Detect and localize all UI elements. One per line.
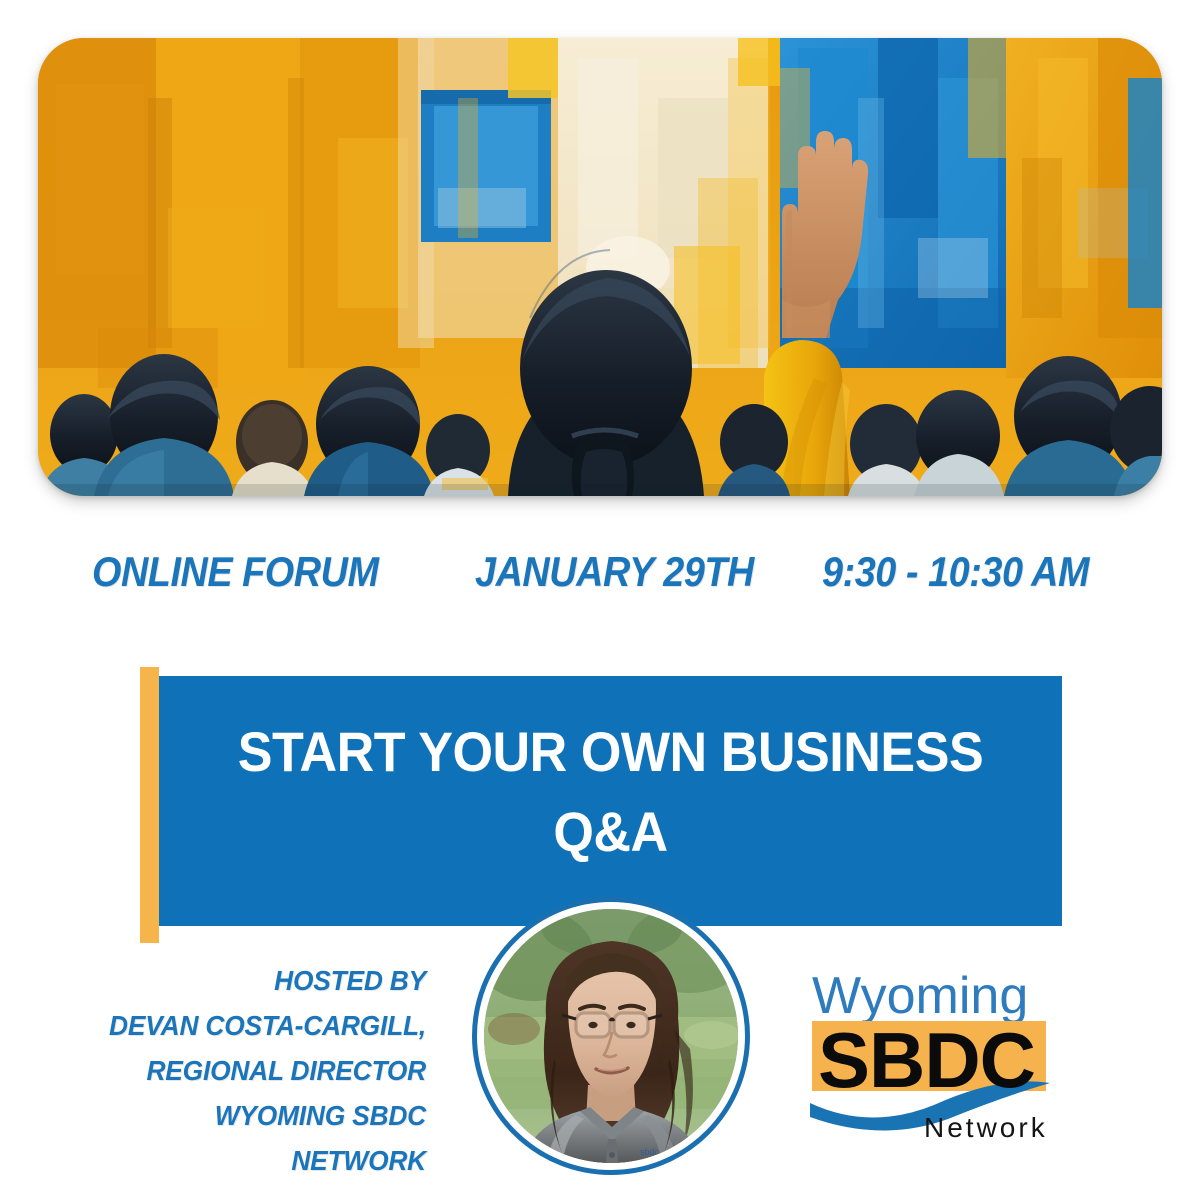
logo-word-network: Network [924,1112,1048,1143]
speaker-portrait: sbdc [472,897,750,1175]
event-title-line-2: Q&A [191,792,1031,872]
wyoming-sbdc-logo: Wyoming SBDC Network [806,955,1056,1145]
event-time: 9:30 - 10:30 AM [822,548,1089,596]
event-details-row: ONLINE FORUM JANUARY 29TH 9:30 - 10:30 A… [60,543,1140,601]
host-title: REGIONAL DIRECTOR [82,1048,426,1093]
speaker-photo: sbdc [484,909,738,1163]
host-name: DEVAN COSTA-CARGILL, [82,1003,426,1048]
host-organization: WYOMING SBDC NETWORK [82,1093,426,1183]
hero-image-classroom [38,38,1162,496]
hero-illustration [38,38,1162,496]
host-info: HOSTED BY DEVAN COSTA-CARGILL, REGIONAL … [60,958,426,1183]
svg-text:sbdc: sbdc [640,1147,660,1157]
host-label: HOSTED BY [82,958,426,1003]
hero-image-frame [38,38,1162,496]
event-date: JANUARY 29TH [475,548,754,596]
event-title-line-1: START YOUR OWN BUSINESS [238,720,983,783]
speaker-photo-illustration: sbdc [484,909,738,1163]
event-flyer: ONLINE FORUM JANUARY 29TH 9:30 - 10:30 A… [0,0,1200,1200]
accent-bar [140,667,159,943]
logo-illustration: Wyoming SBDC Network [806,955,1056,1145]
event-title: START YOUR OWN BUSINESS Q&A [191,712,1031,872]
title-banner: START YOUR OWN BUSINESS Q&A [159,676,1062,926]
event-format: ONLINE FORUM [92,548,378,596]
logo-word-sbdc: SBDC [818,1016,1035,1104]
